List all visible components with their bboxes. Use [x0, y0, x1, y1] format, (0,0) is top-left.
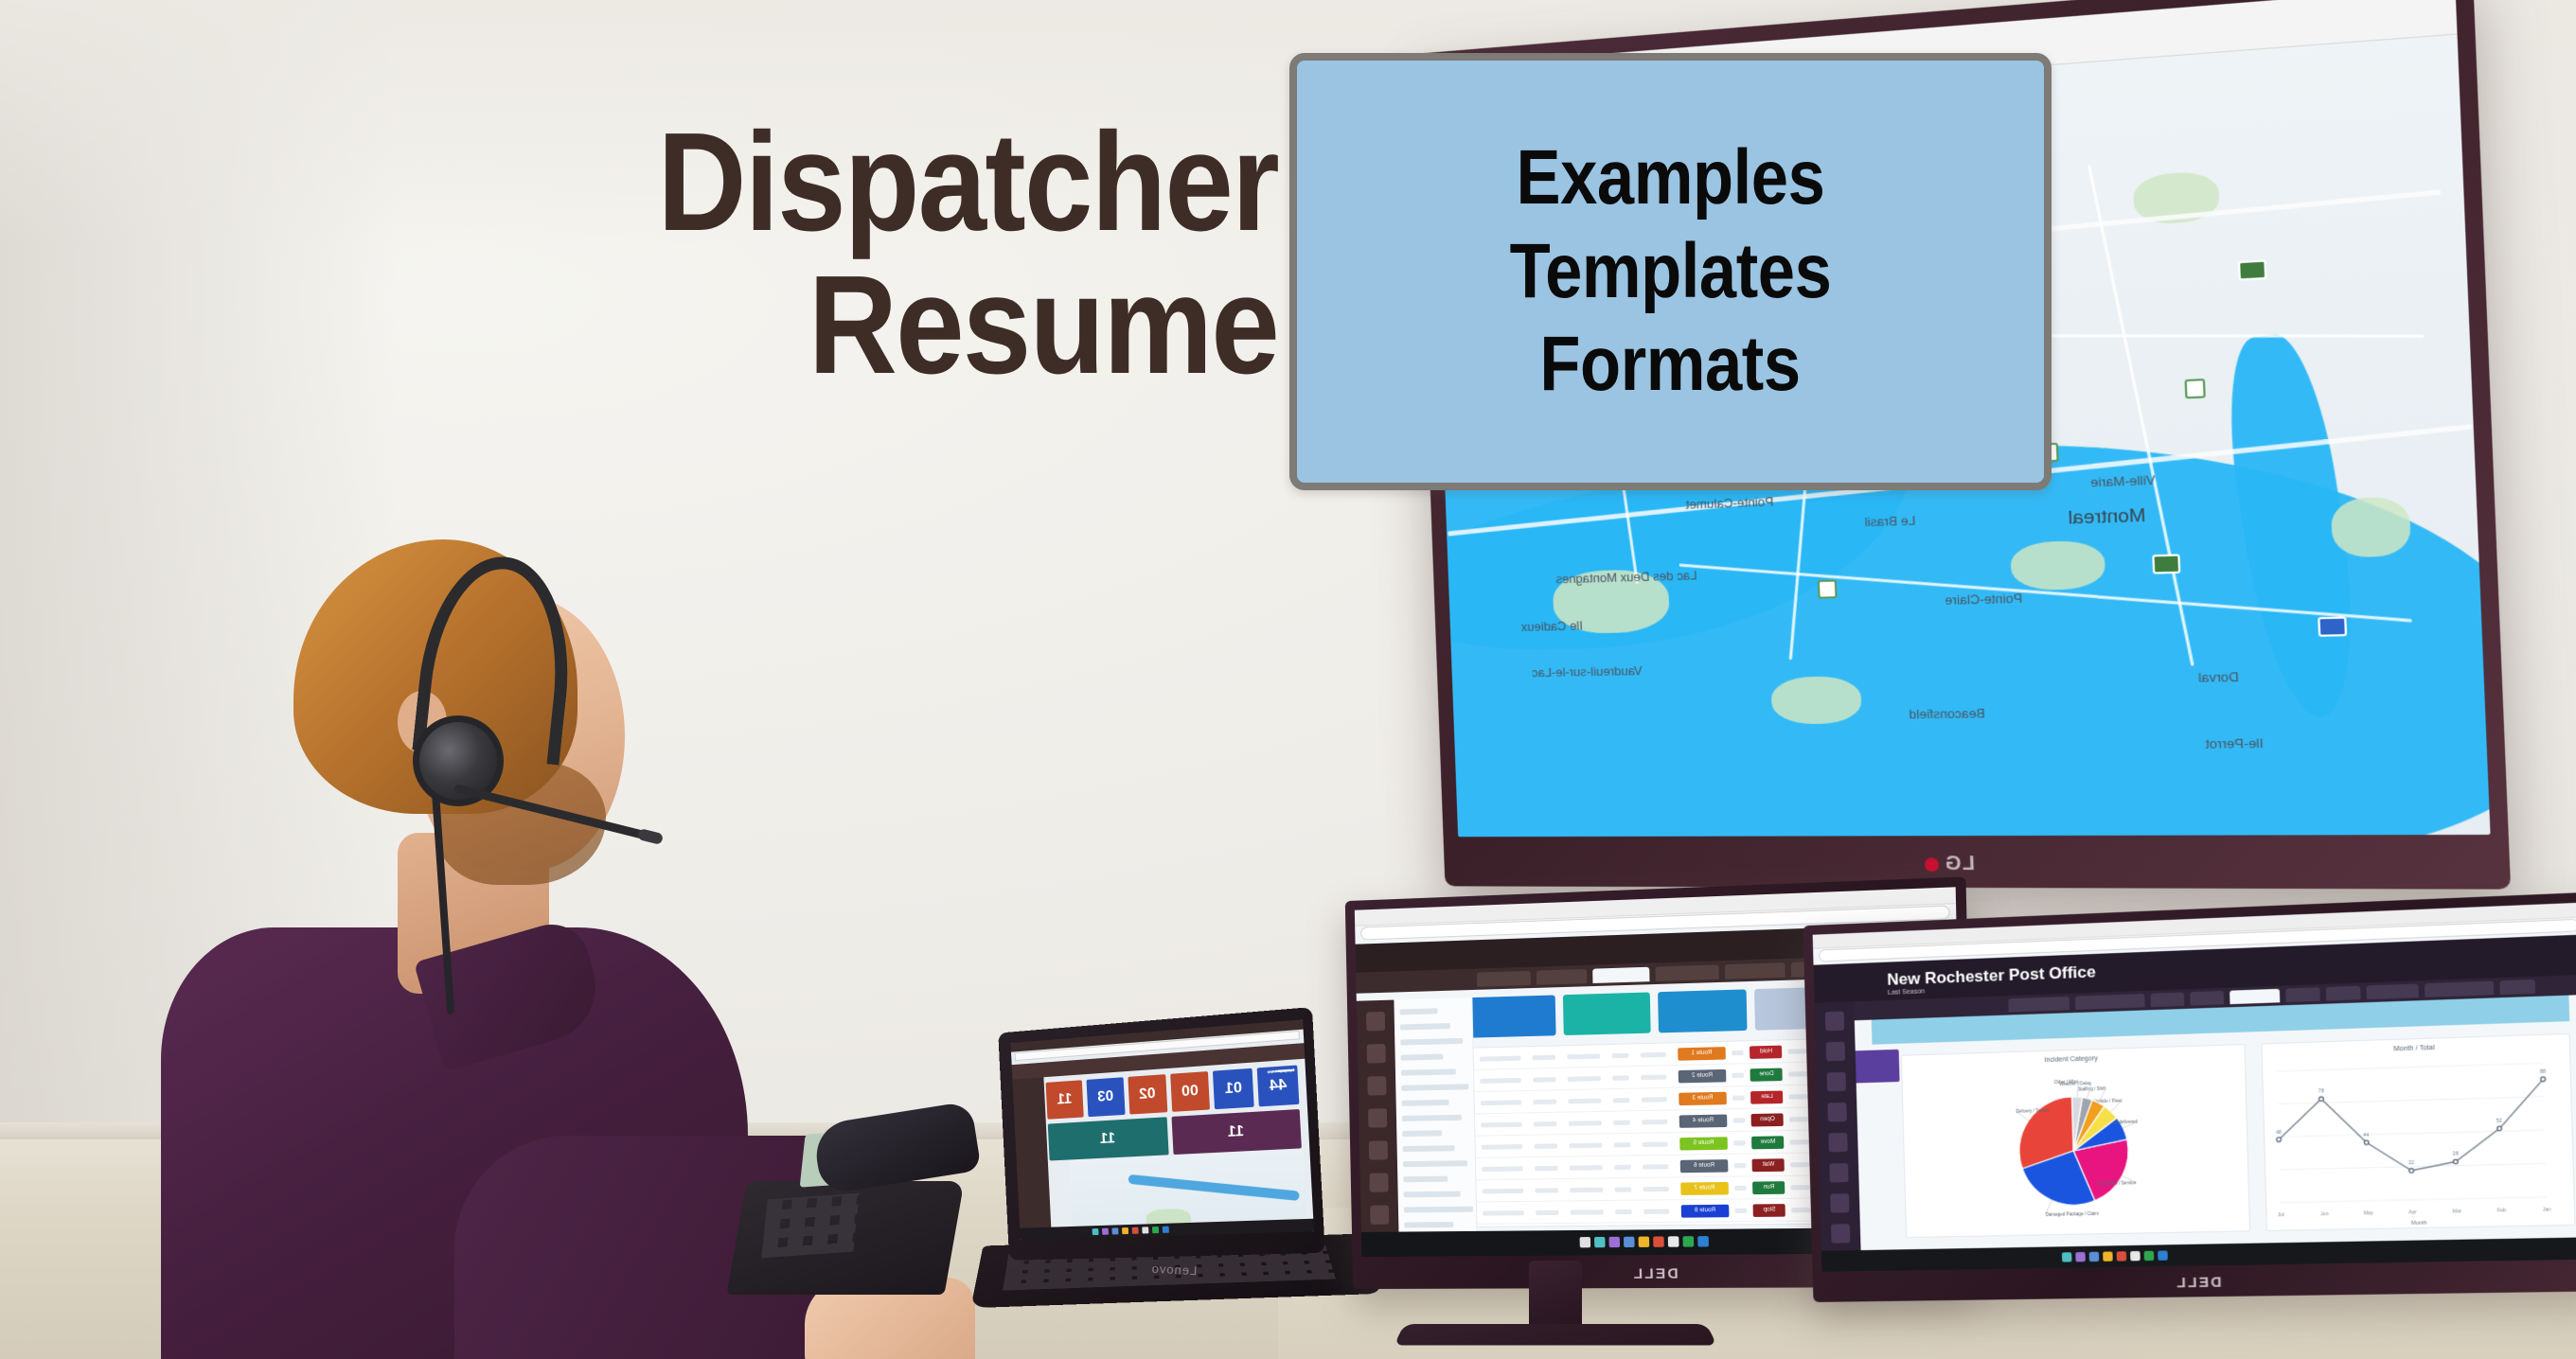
status-chip[interactable]: Stop	[1753, 1204, 1785, 1217]
app-tab[interactable]	[2499, 980, 2535, 995]
map-label: Ile Cadieux	[1521, 618, 1583, 634]
status-chip[interactable]: Late	[1750, 1090, 1783, 1103]
taskbar-icon[interactable]	[1093, 1228, 1099, 1235]
monitor-stand-base	[1394, 1324, 1717, 1346]
laptop-kpi-value: 00	[1181, 1083, 1199, 1101]
pie-chart-card[interactable]: Incident Category Delivery / TransitDama…	[1901, 1044, 2250, 1238]
route-chip[interactable]: Route 5	[1679, 1137, 1728, 1150]
app-icon-rail[interactable]	[1357, 1000, 1399, 1232]
monitor-stand-neck	[1529, 1261, 1582, 1331]
table-cell	[1789, 1094, 1808, 1100]
desk-phone-handset[interactable]	[811, 1101, 981, 1195]
map-poi-marker[interactable]	[2185, 379, 2206, 398]
pie-chart: Delivery / TransitDamaged Package / Clai…	[1902, 1045, 2249, 1237]
app-tab[interactable]	[2286, 987, 2321, 1002]
table-row[interactable]: StopRoute 8	[1477, 1198, 1846, 1225]
taskbar-icon[interactable]	[1682, 1236, 1694, 1246]
table-cell	[1613, 1120, 1630, 1124]
taskbar-icon[interactable]	[1142, 1227, 1148, 1233]
taskbar-icon[interactable]	[1132, 1227, 1139, 1234]
taskbar-icon[interactable]	[1608, 1237, 1620, 1247]
status-chip[interactable]: Wait	[1752, 1158, 1785, 1172]
app-tab[interactable]	[1725, 962, 1785, 980]
svg-text:May: May	[2364, 1210, 2374, 1217]
map-highway-badge	[2318, 616, 2347, 636]
detail-row	[1402, 1115, 1462, 1121]
map-label: Vaudreuil-sur-le-Lac	[1532, 663, 1643, 679]
detail-row	[1404, 1207, 1473, 1213]
laptop-kpi-value: 11	[1099, 1130, 1115, 1148]
headset-microphone	[637, 828, 664, 845]
laptop-kpi-value: 03	[1097, 1088, 1114, 1106]
table-cell	[1732, 1050, 1744, 1054]
svg-text:78: 78	[2318, 1089, 2324, 1095]
laptop-kpi-value: 11	[1057, 1091, 1073, 1109]
table-cell	[1642, 1141, 1668, 1147]
detail-row	[1404, 1191, 1461, 1198]
table-cell	[1533, 1077, 1555, 1083]
table-cell	[1643, 1164, 1669, 1170]
map-label: Dorval	[2198, 669, 2239, 685]
table-cell	[1791, 1184, 1810, 1189]
table-cell	[1732, 1072, 1745, 1077]
app-tab[interactable]	[1592, 967, 1649, 983]
table-cell	[1790, 1161, 1809, 1166]
svg-text:Mar: Mar	[2453, 1209, 2462, 1215]
route-chip[interactable]: Route 6	[1680, 1159, 1729, 1173]
table-cell	[1791, 1207, 1810, 1211]
laptop-kpi-value: 01	[1224, 1080, 1242, 1098]
taskbar-icon[interactable]	[1111, 1227, 1118, 1234]
table-cell	[1642, 1119, 1668, 1124]
table-cell	[1567, 1053, 1600, 1059]
table-cell	[1790, 1139, 1809, 1145]
detail-row	[1403, 1145, 1455, 1152]
monitor-right: New Rochester Post Office Last Season Mo…	[1803, 891, 2576, 1302]
taskbar-icon[interactable]	[2158, 1250, 2168, 1260]
kpi-row	[1469, 986, 1845, 1037]
kpi-tile[interactable]	[1563, 992, 1651, 1035]
table-cell	[1733, 1140, 1746, 1145]
app-tab[interactable]	[2074, 994, 2144, 1010]
taskbar-icon[interactable]	[1697, 1236, 1709, 1246]
taskbar-icon[interactable]	[1594, 1237, 1606, 1247]
table-cell	[1569, 1165, 1602, 1171]
taskbar-icon[interactable]	[1163, 1227, 1169, 1233]
table-cell	[1483, 1188, 1524, 1193]
map-label-city: Montreal	[2068, 505, 2146, 530]
laptop-kpi-tile[interactable]: In Transit01	[1213, 1068, 1254, 1109]
app-icon-rail[interactable]	[1815, 1001, 1861, 1251]
table-cell	[1734, 1185, 1747, 1190]
table-cell	[1480, 1055, 1521, 1061]
detail-row	[1403, 1176, 1448, 1183]
laptop-kpi-tile[interactable]: Failed Attempts02	[1128, 1074, 1167, 1114]
taskbar-icon[interactable]	[1122, 1227, 1128, 1234]
laptop-kpi-tile[interactable]: Completed11	[1048, 1117, 1169, 1160]
svg-text:48: 48	[2276, 1130, 2282, 1136]
line-chart: 88522822447848JanFebMarAprMayJunJulMonth	[2262, 1034, 2574, 1230]
table-cell	[1534, 1121, 1556, 1126]
table-cell	[1643, 1186, 1669, 1191]
table-cell	[1535, 1165, 1557, 1170]
map-label: Pointe-Claire	[1945, 591, 2022, 609]
svg-text:Other / Misc: Other / Misc	[2054, 1079, 2079, 1085]
svg-text:Jul: Jul	[2278, 1212, 2284, 1218]
table-cell	[1535, 1143, 1557, 1148]
rail-icon[interactable]	[1827, 1072, 1846, 1092]
taskbar-icon[interactable]	[2103, 1251, 2113, 1261]
table-cell	[1482, 1166, 1523, 1172]
rail-icon[interactable]	[1831, 1224, 1850, 1243]
taskbar-icon[interactable]	[2130, 1251, 2141, 1261]
map-label: Ville-Marie	[2090, 472, 2156, 489]
taskbar-icon[interactable]	[1580, 1237, 1591, 1247]
rail-icon[interactable]	[1825, 1012, 1844, 1032]
details-sidebar[interactable]	[1394, 997, 1477, 1232]
table-cell	[1482, 1143, 1523, 1149]
table-cell	[1640, 1051, 1666, 1057]
rail-icon[interactable]	[1369, 1173, 1388, 1191]
table-cell	[1614, 1187, 1631, 1191]
svg-text:Feb: Feb	[2497, 1208, 2507, 1214]
callout-line-2: Templates	[1510, 230, 1832, 314]
route-chip[interactable]: Route 7	[1680, 1181, 1729, 1194]
laptop: Total Deliveries44In Transit01Delayed00F…	[985, 1020, 1363, 1359]
taskbar-icon[interactable]	[2075, 1252, 2086, 1262]
page-title: Dispatcher Resume	[303, 112, 1278, 397]
taskbar-icon[interactable]	[1668, 1236, 1679, 1246]
map-park	[1770, 676, 1862, 725]
table-cell	[1569, 1142, 1602, 1148]
table-cell	[1480, 1077, 1521, 1083]
status-chip[interactable]: Move	[1751, 1136, 1784, 1149]
detail-row	[1400, 1038, 1463, 1046]
svg-text:Jan: Jan	[2543, 1207, 2551, 1213]
desk-phone-keypad[interactable]	[761, 1193, 860, 1259]
detail-row	[1404, 1222, 1453, 1228]
table-cell	[1732, 1095, 1745, 1100]
table-cell	[1568, 1098, 1601, 1103]
svg-text:Apr: Apr	[2408, 1209, 2417, 1215]
route-chip[interactable]: Route 9	[1681, 1227, 1730, 1227]
laptop-kpi-value: 11	[1227, 1123, 1244, 1141]
svg-text:Complaint / Service: Complaint / Service	[2097, 1180, 2137, 1186]
app-tab[interactable]	[2230, 989, 2281, 1004]
kpi-tile[interactable]	[1658, 989, 1747, 1032]
svg-text:Staffing / Shift: Staffing / Shift	[2078, 1086, 2106, 1092]
laptop-kpi-value: 02	[1139, 1085, 1156, 1103]
svg-text:Jun: Jun	[2320, 1211, 2329, 1217]
table-cell	[1536, 1188, 1558, 1192]
dell-logo: DELL	[2175, 1274, 2222, 1291]
map-label: Ile-Perrot	[2205, 735, 2264, 751]
svg-text:Damaged Package / Claim: Damaged Package / Claim	[2046, 1210, 2099, 1216]
rail-icon[interactable]	[1827, 1103, 1846, 1122]
table-cell	[1735, 1208, 1748, 1212]
table-cell	[1733, 1118, 1746, 1122]
svg-text:Delivery / Transit: Delivery / Transit	[2016, 1108, 2050, 1114]
map-label: Le Brasil	[1864, 513, 1916, 529]
rail-icon[interactable]	[1828, 1133, 1847, 1153]
page-title-line-1: Dispatcher	[420, 112, 1278, 255]
app-tab[interactable]	[2367, 983, 2419, 999]
rail-icon[interactable]	[1367, 1044, 1386, 1064]
taskbar-icon[interactable]	[2117, 1251, 2127, 1261]
dell-logo: DELL	[1631, 1265, 1678, 1282]
map-highway-badge	[2237, 259, 2266, 280]
callout-line-1: Examples	[1517, 136, 1825, 221]
table-cell	[1570, 1187, 1603, 1192]
map-label: Pointe-Calumet	[1685, 494, 1773, 512]
taskbar-icon[interactable]	[1624, 1237, 1635, 1247]
route-chip[interactable]: Route 4	[1679, 1114, 1728, 1127]
rail-icon[interactable]	[1368, 1108, 1387, 1127]
laptop-side-rail[interactable]	[1012, 1077, 1051, 1230]
route-chip[interactable]: Route 1	[1678, 1047, 1726, 1061]
screenshot-canvas: Auto-Fon OTP	[0, 0, 2576, 1359]
windows-taskbar[interactable]	[1821, 1237, 2576, 1272]
laptop-kpi-tile-grid: Total Deliveries44In Transit01Delayed00F…	[1046, 1065, 1302, 1160]
table-cell	[1788, 1049, 1807, 1054]
app-subtitle: Last Season	[1888, 988, 1925, 997]
desk-phone[interactable]	[737, 1105, 973, 1295]
table-cell	[1641, 1074, 1667, 1080]
line-chart-card[interactable]: Month / Total 88522822447848JanFebMarApr…	[2261, 1033, 2575, 1231]
rail-icon[interactable]	[1367, 1076, 1386, 1095]
table-cell	[1567, 1076, 1600, 1082]
monitor-right-screen[interactable]: New Rochester Post Office Last Season Mo…	[1813, 903, 2576, 1272]
laptop-kpi-value: 44	[1269, 1077, 1287, 1096]
taskbar-icon[interactable]	[1653, 1236, 1664, 1246]
route-chip[interactable]: Route 8	[1681, 1204, 1730, 1217]
taskbar-icon[interactable]	[1152, 1227, 1159, 1233]
table-cell	[1536, 1209, 1558, 1214]
app-tab[interactable]	[1537, 969, 1588, 985]
route-chip[interactable]: Route 2	[1679, 1068, 1727, 1083]
status-chip[interactable]: Done	[1750, 1068, 1783, 1081]
table-cell	[1615, 1209, 1632, 1213]
table-cell	[1533, 1054, 1555, 1060]
app-tab[interactable]	[2008, 997, 2070, 1013]
kpi-tile[interactable]	[1469, 995, 1555, 1037]
table-cell	[1788, 1071, 1807, 1077]
app-tab[interactable]	[2425, 981, 2494, 997]
laptop-kpi-tile[interactable]: On Route11	[1172, 1109, 1302, 1155]
callout-line-3: Formats	[1540, 323, 1801, 407]
status-chip[interactable]: Ship	[1753, 1227, 1785, 1227]
app-title: New Rochester Post Office	[1887, 962, 2096, 990]
table-cell	[1612, 1097, 1629, 1102]
rail-icon[interactable]	[1829, 1163, 1848, 1183]
route-chip[interactable]: Route 3	[1679, 1091, 1727, 1104]
dispatch-table[interactable]: HoldRoute 1DoneRoute 2LateRoute 3OpenRou…	[1472, 1038, 1847, 1227]
detail-row	[1401, 1068, 1456, 1075]
table-cell	[1643, 1209, 1670, 1213]
app-tab[interactable]	[2190, 991, 2224, 1006]
app-tab[interactable]	[1477, 971, 1531, 987]
laptop-screen[interactable]: Total Deliveries44In Transit01Delayed00F…	[1011, 1019, 1314, 1240]
svg-text:44: 44	[2363, 1133, 2369, 1138]
table-cell	[1570, 1209, 1603, 1214]
status-chip[interactable]: Open	[1751, 1113, 1784, 1126]
detail-row	[1402, 1100, 1449, 1106]
status-chip[interactable]: Run	[1752, 1181, 1785, 1194]
map-park	[2331, 497, 2411, 558]
rail-icon[interactable]	[1369, 1140, 1388, 1159]
table-cell	[1534, 1099, 1556, 1104]
table-cell	[1481, 1100, 1522, 1105]
map-poi-marker[interactable]	[1818, 580, 1838, 599]
table-cell	[1612, 1075, 1629, 1081]
table-cell	[1483, 1210, 1524, 1216]
laptop-map-water	[1128, 1174, 1299, 1201]
table-cell	[1481, 1121, 1522, 1127]
taskbar-icon[interactable]	[1639, 1237, 1650, 1247]
page-title-line-2: Resume	[420, 255, 1278, 397]
rail-icon[interactable]	[1826, 1042, 1845, 1062]
app-tab[interactable]	[1655, 964, 1718, 981]
table-cell	[1568, 1121, 1601, 1126]
taskbar-icon[interactable]	[2062, 1252, 2072, 1262]
svg-text:Month: Month	[2411, 1220, 2427, 1227]
detail-row	[1401, 1054, 1444, 1061]
detail-row	[1400, 1008, 1438, 1015]
taskbar-icon[interactable]	[2144, 1251, 2155, 1261]
table-cell	[1614, 1164, 1631, 1169]
laptop-kpi-tile[interactable]: Delayed00	[1170, 1071, 1211, 1112]
rail-icon[interactable]	[1366, 1012, 1385, 1032]
app-tab[interactable]	[2150, 992, 2184, 1007]
rail-icon[interactable]	[1830, 1193, 1849, 1212]
lenovo-logo: Lenovo	[1150, 1262, 1197, 1279]
taskbar-icon[interactable]	[1102, 1228, 1109, 1235]
svg-text:88: 88	[2540, 1069, 2547, 1076]
map-label: Beaconsfield	[1909, 706, 1985, 722]
status-chip[interactable]: Hold	[1750, 1045, 1782, 1058]
laptop-kpi-tile[interactable]: Open Tickets11	[1046, 1080, 1084, 1119]
map-highway-badge	[2152, 554, 2180, 574]
table-cell	[1734, 1162, 1747, 1167]
table-cell	[1613, 1142, 1630, 1147]
rail-icon[interactable]	[1370, 1206, 1389, 1225]
callout-box: Examples Templates Formats	[1289, 53, 2052, 490]
table-cell	[1789, 1117, 1808, 1122]
svg-text:22: 22	[2408, 1160, 2414, 1166]
taskbar-icon[interactable]	[2089, 1252, 2100, 1262]
app-tab[interactable]	[2326, 986, 2361, 1001]
lg-logo: LG	[1925, 853, 1976, 875]
detail-row	[1402, 1130, 1442, 1137]
laptop-kpi-tile[interactable]: Pending Pickup03	[1086, 1077, 1125, 1117]
laptop-lid: Total Deliveries44In Transit01Delayed00F…	[998, 1007, 1324, 1261]
table-cell	[1641, 1097, 1667, 1103]
table-cell	[1611, 1052, 1628, 1058]
svg-text:52: 52	[2496, 1119, 2503, 1125]
detail-row	[1400, 1023, 1450, 1030]
detail-row	[1403, 1160, 1467, 1167]
analytics-app[interactable]: New Rochester Post Office Last Season Mo…	[1813, 903, 2576, 1272]
svg-text:28: 28	[2453, 1152, 2459, 1157]
detail-row	[1401, 1084, 1468, 1091]
